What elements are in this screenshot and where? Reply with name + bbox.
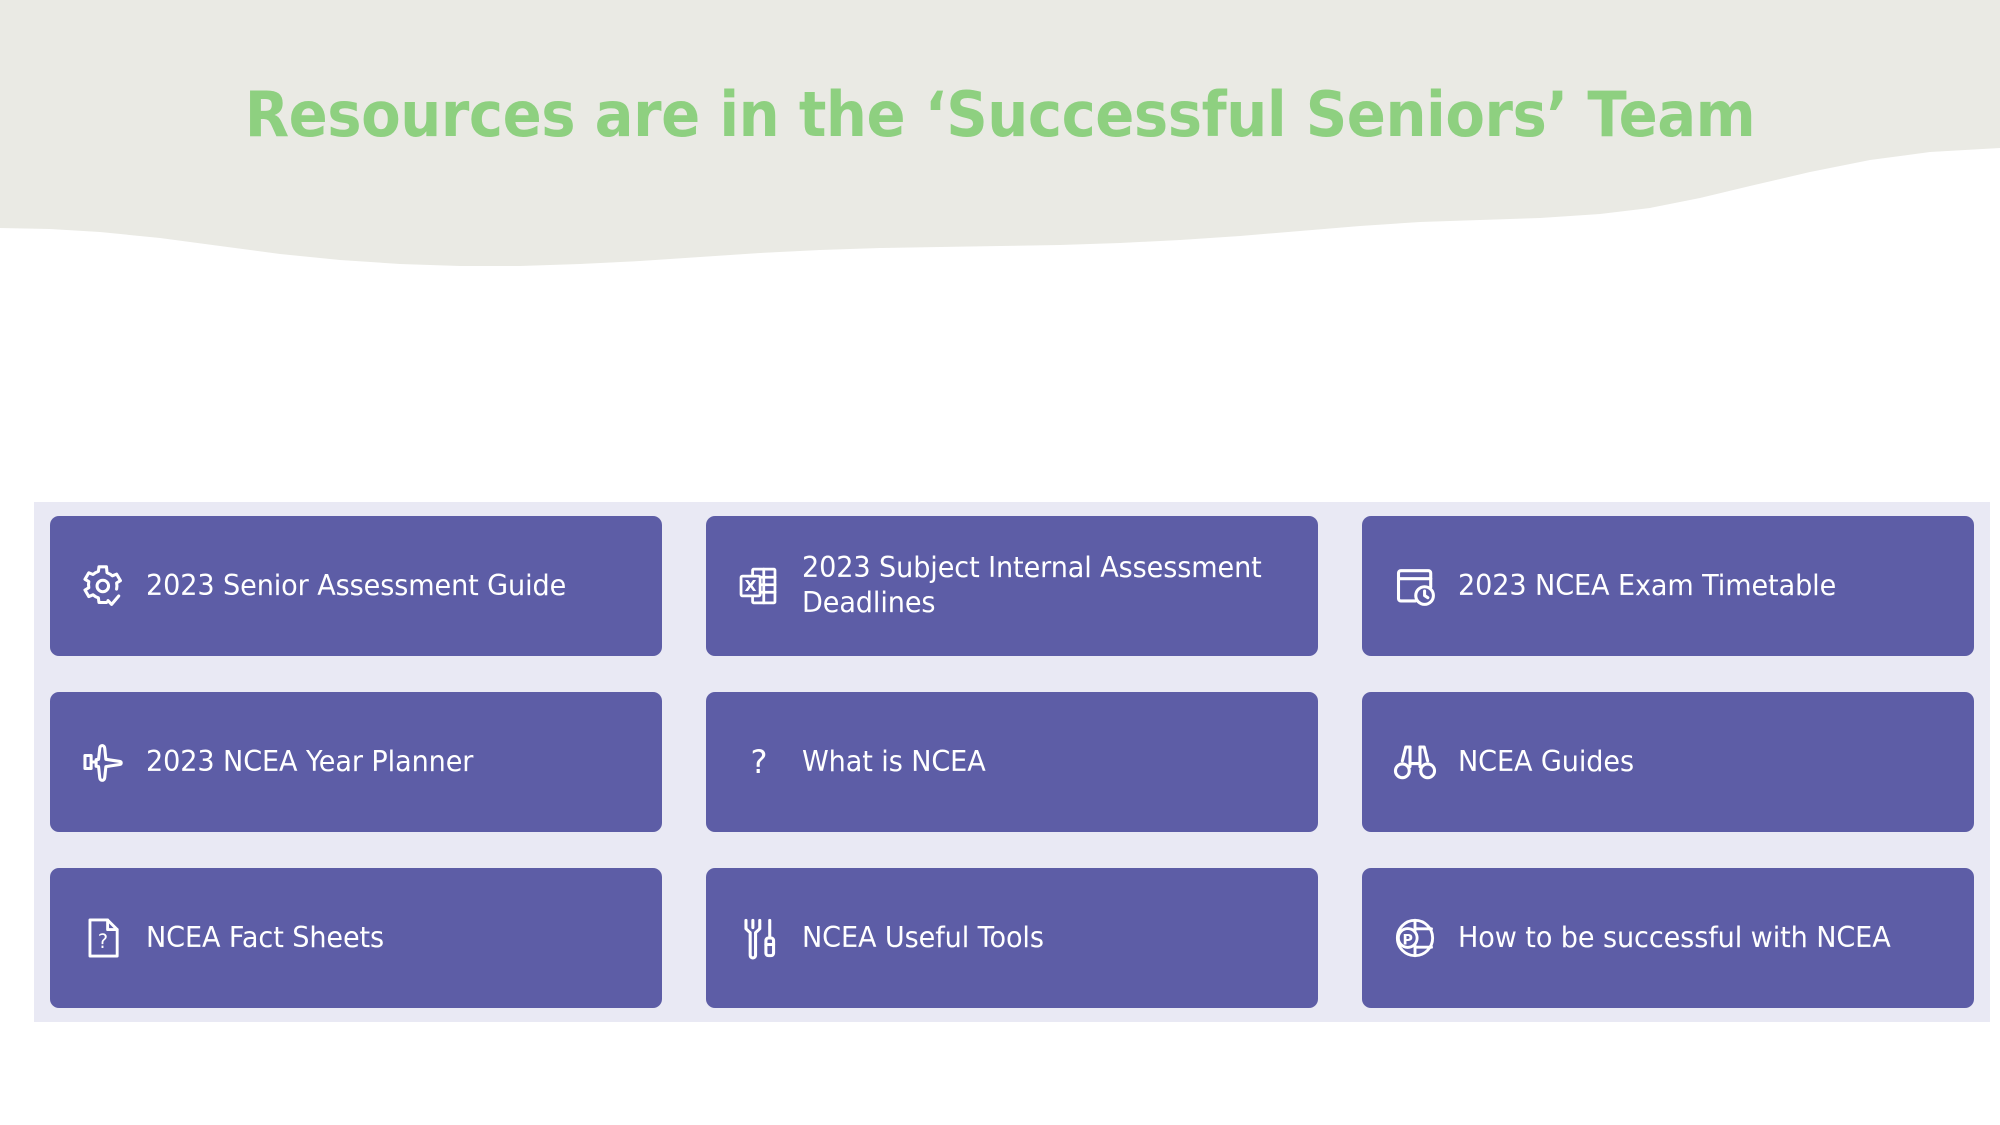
page-title: Resources are in the ‘Successful Seniors… xyxy=(70,78,1930,151)
question-mark-icon: ? xyxy=(732,735,786,789)
svg-text:?: ? xyxy=(98,930,108,953)
question-mark-glyph: ? xyxy=(751,746,768,778)
tile-label: 2023 NCEA Year Planner xyxy=(146,745,473,780)
calendar-clock-icon xyxy=(1388,559,1442,613)
tile-ncea-year-planner[interactable]: 2023 NCEA Year Planner xyxy=(50,692,662,832)
tile-label: 2023 NCEA Exam Timetable xyxy=(1458,569,1836,604)
document-question-icon: ? xyxy=(76,911,130,965)
tile-label: How to be successful with NCEA xyxy=(1458,921,1891,956)
tile-how-to-be-successful-with-ncea[interactable]: P How to be successful with NCEA xyxy=(1362,868,1974,1008)
tile-label: 2023 Senior Assessment Guide xyxy=(146,569,566,604)
tile-subject-internal-assessment-deadlines[interactable]: X 2023 Subject Internal Assessment Deadl… xyxy=(706,516,1318,656)
gear-check-icon xyxy=(76,559,130,613)
tile-ncea-useful-tools[interactable]: NCEA Useful Tools xyxy=(706,868,1318,1008)
tile-label: NCEA Fact Sheets xyxy=(146,921,384,956)
resource-tile-panel: 2023 Senior Assessment Guide X 2023 Subj… xyxy=(34,502,1990,1022)
tile-senior-assessment-guide[interactable]: 2023 Senior Assessment Guide xyxy=(50,516,662,656)
tile-ncea-fact-sheets[interactable]: ? NCEA Fact Sheets xyxy=(50,868,662,1008)
tile-ncea-guides[interactable]: NCEA Guides xyxy=(1362,692,1974,832)
binoculars-icon xyxy=(1388,735,1442,789)
excel-file-icon: X xyxy=(732,559,786,613)
tools-icon xyxy=(732,911,786,965)
svg-text:X: X xyxy=(745,577,757,595)
plane-icon xyxy=(76,735,130,789)
tile-label: NCEA Guides xyxy=(1458,745,1634,780)
svg-text:P: P xyxy=(1403,933,1413,949)
powerpoint-icon: P xyxy=(1388,911,1442,965)
tile-what-is-ncea[interactable]: ? What is NCEA xyxy=(706,692,1318,832)
tile-label: NCEA Useful Tools xyxy=(802,921,1044,956)
tile-label: 2023 Subject Internal Assessment Deadlin… xyxy=(802,551,1262,621)
tile-ncea-exam-timetable[interactable]: 2023 NCEA Exam Timetable xyxy=(1362,516,1974,656)
tile-label: What is NCEA xyxy=(802,745,986,780)
